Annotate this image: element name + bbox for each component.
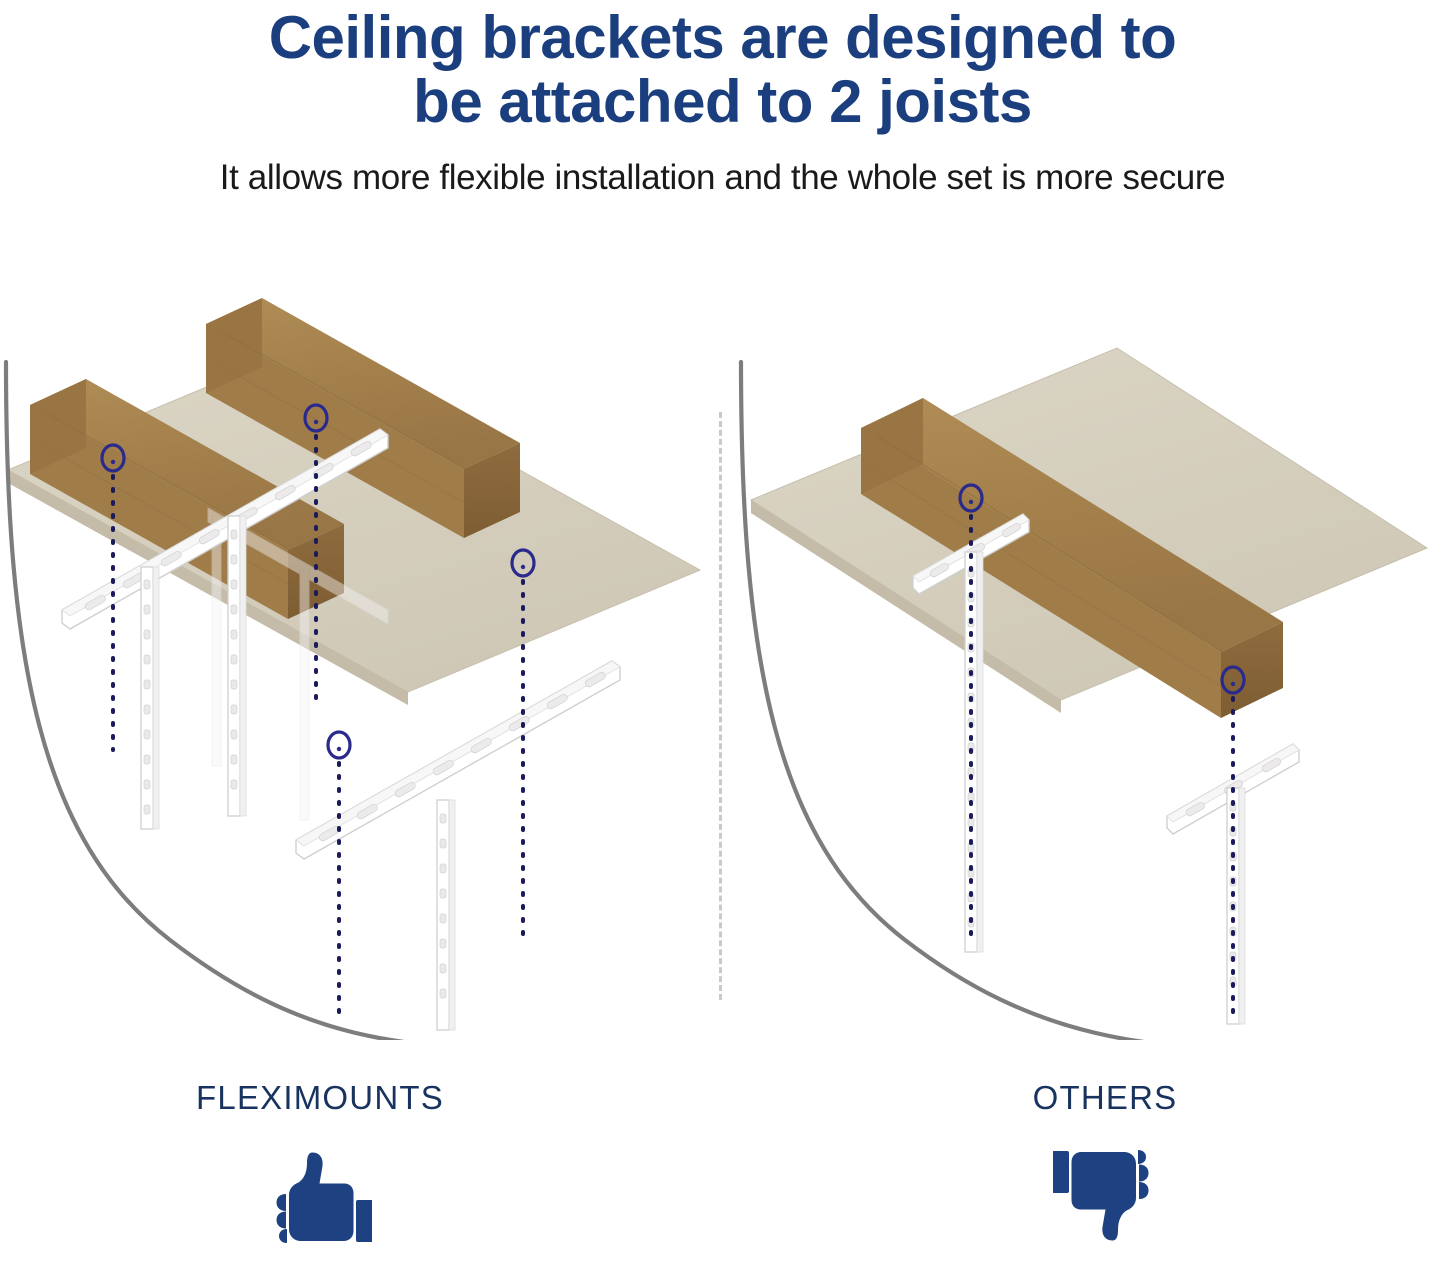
header: Ceiling brackets are designed to be atta… [0,0,1445,198]
comparison-stage [0,280,1445,1040]
bracket-post-right [228,516,246,816]
comparison-divider [719,412,722,1000]
page-subtitle: It allows more flexible installation and… [0,158,1445,198]
page-title-line-2: be attached to 2 joists [0,70,1445,134]
thumbs-down-icon [1053,1148,1157,1245]
bracket-post-left [141,567,159,829]
bracket-secondary [296,661,620,1030]
anchor-marker [328,732,350,1015]
fleximounts-diagram [0,280,718,1040]
verdict-fleximounts [20,1148,620,1245]
brand-label-others: OTHERS [805,1080,1405,1116]
thumbs-up-icon [268,1148,372,1245]
footer-verdicts: FLEXIMOUNTS OTHERS [0,1080,1445,1277]
others-diagram [727,280,1445,1040]
illustration-fleximounts [0,280,718,1040]
infographic-page: Ceiling brackets are designed to be atta… [0,0,1445,1277]
page-title: Ceiling brackets are designed to be atta… [0,0,1445,134]
bracket-post-upper [965,552,983,952]
verdict-column-fleximounts: FLEXIMOUNTS [20,1080,620,1245]
bracket-post-lower [437,800,455,1030]
brand-label-fleximounts: FLEXIMOUNTS [20,1080,620,1116]
verdict-column-others: OTHERS [805,1080,1405,1245]
verdict-others [805,1148,1405,1245]
bracket-post-lower [1227,788,1245,1024]
illustration-others [727,280,1445,1040]
page-title-line-1: Ceiling brackets are designed to [0,6,1445,70]
